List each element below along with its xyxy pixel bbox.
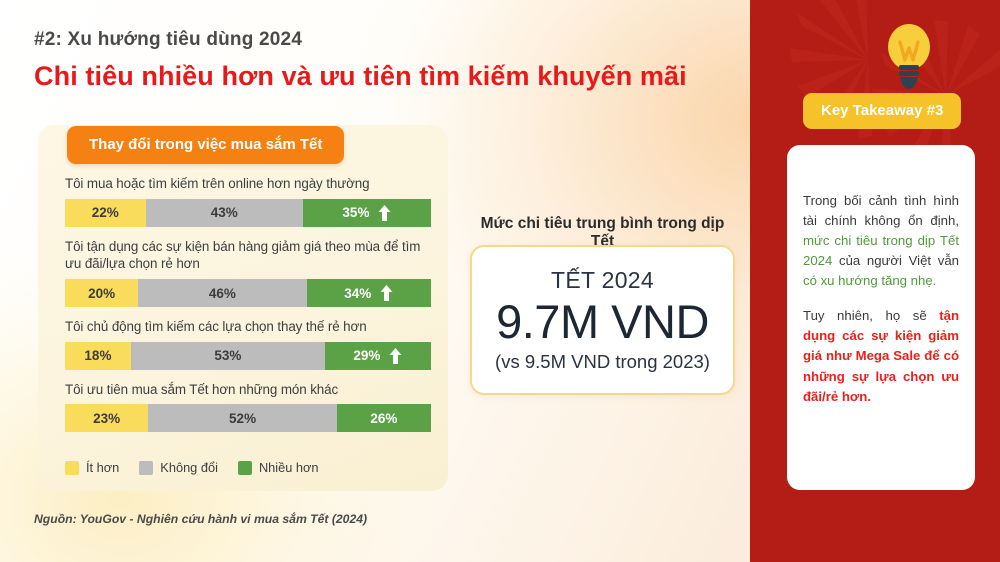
bar-segment-more: 35% xyxy=(303,199,431,227)
chart-row-label: Tôi mua hoặc tìm kiếm trên online hơn ng… xyxy=(65,175,431,193)
bar-segment-same: 52% xyxy=(148,404,336,432)
takeaway-paragraph-1: Trong bối cảnh tình hình tài chính không… xyxy=(803,191,959,291)
bar-segment-more: 29% xyxy=(325,342,431,370)
bar-segment-more: 26% xyxy=(337,404,431,432)
stat-year: TẾT 2024 xyxy=(551,267,654,294)
chart-row: Tôi chủ động tìm kiếm các lựa chọn thay … xyxy=(65,318,431,370)
stacked-bar: 20%46%34% xyxy=(65,279,431,307)
stat-comparison: (vs 9.5M VND trong 2023) xyxy=(495,351,710,373)
tk1-highlight-2: có xu hướng tăng nhẹ. xyxy=(803,273,936,288)
bar-segment-less: 20% xyxy=(65,279,138,307)
bar-segment-same: 53% xyxy=(131,342,325,370)
bar-segment-value: 35% xyxy=(342,205,369,220)
takeaway-badge: Key Takeaway #3 xyxy=(803,93,961,129)
bar-segment-value: 34% xyxy=(344,286,371,301)
takeaway-paragraph-2: Tuy nhiên, họ sẽ tận dụng các sự kiện gi… xyxy=(803,306,959,406)
page-kicker: #2: Xu hướng tiêu dùng 2024 xyxy=(34,28,734,53)
legend-label: Không đổi xyxy=(160,460,218,475)
source-note: Nguồn: YouGov - Nghiên cứu hành vi mua s… xyxy=(34,512,367,526)
chart-row-label: Tôi ưu tiên mua sắm Tết hơn những món kh… xyxy=(65,381,431,399)
chart-row: Tôi tận dụng các sự kiện bán hàng giảm g… xyxy=(65,238,431,307)
stat-card: TẾT 2024 9.7M VND (vs 9.5M VND trong 202… xyxy=(470,245,735,395)
legend-swatch xyxy=(238,461,252,475)
stacked-bar: 22%43%35% xyxy=(65,199,431,227)
chart-legend: Ít hơnKhông đổiNhiều hơn xyxy=(65,460,319,475)
legend-item: Ít hơn xyxy=(65,460,119,475)
bar-segment-more: 34% xyxy=(307,279,431,307)
bar-segment-same: 46% xyxy=(138,279,306,307)
trend-up-icon xyxy=(380,285,393,301)
bar-segment-value: 22% xyxy=(92,205,119,220)
header: #2: Xu hướng tiêu dùng 2024 Chi tiêu nhi… xyxy=(34,28,734,93)
legend-swatch xyxy=(139,461,153,475)
infographic-slide: #2: Xu hướng tiêu dùng 2024 Chi tiêu nhi… xyxy=(0,0,1000,562)
chart-card: Tôi mua hoặc tìm kiếm trên online hơn ng… xyxy=(38,125,448,491)
bar-segment-value: 29% xyxy=(353,348,380,363)
bar-segment-same: 43% xyxy=(146,199,303,227)
tk1-part2: của người Việt vẫn xyxy=(832,253,959,268)
bar-segment-value: 53% xyxy=(214,348,241,363)
stat-value: 9.7M VND xyxy=(496,296,709,349)
trend-up-icon xyxy=(378,205,391,221)
bar-segment-value: 46% xyxy=(209,286,236,301)
bar-segment-value: 20% xyxy=(88,286,115,301)
bar-segment-less: 22% xyxy=(65,199,146,227)
chart-rows: Tôi mua hoặc tìm kiếm trên online hơn ng… xyxy=(65,175,431,443)
bar-segment-value: 23% xyxy=(93,411,120,426)
chart-row-label: Tôi chủ động tìm kiếm các lựa chọn thay … xyxy=(65,318,431,336)
legend-item: Không đổi xyxy=(139,460,218,475)
bar-segment-less: 18% xyxy=(65,342,131,370)
legend-label: Nhiều hơn xyxy=(259,460,319,475)
tk1-part1: Trong bối cảnh tình hình tài chính không… xyxy=(803,193,959,228)
bar-segment-value: 18% xyxy=(84,348,111,363)
chart-row: Tôi mua hoặc tìm kiếm trên online hơn ng… xyxy=(65,175,431,227)
stacked-bar: 18%53%29% xyxy=(65,342,431,370)
bar-segment-value: 26% xyxy=(370,411,397,426)
takeaway-card: Trong bối cảnh tình hình tài chính không… xyxy=(787,145,975,490)
chart-badge: Thay đổi trong việc mua sắm Tết xyxy=(67,126,344,164)
bar-segment-value: 43% xyxy=(211,205,238,220)
chart-row: Tôi ưu tiên mua sắm Tết hơn những món kh… xyxy=(65,381,431,433)
tk2-part1: Tuy nhiên, họ sẽ xyxy=(803,308,939,323)
legend-label: Ít hơn xyxy=(86,460,119,475)
legend-swatch xyxy=(65,461,79,475)
stacked-bar: 23%52%26% xyxy=(65,404,431,432)
chart-row-label: Tôi tận dụng các sự kiện bán hàng giảm g… xyxy=(65,238,431,273)
bar-segment-less: 23% xyxy=(65,404,148,432)
page-title: Chi tiêu nhiều hơn và ưu tiên tìm kiếm k… xyxy=(34,60,734,94)
bar-segment-value: 52% xyxy=(229,411,256,426)
legend-item: Nhiều hơn xyxy=(238,460,319,475)
trend-up-icon xyxy=(389,348,402,364)
lightbulb-icon xyxy=(878,18,940,90)
